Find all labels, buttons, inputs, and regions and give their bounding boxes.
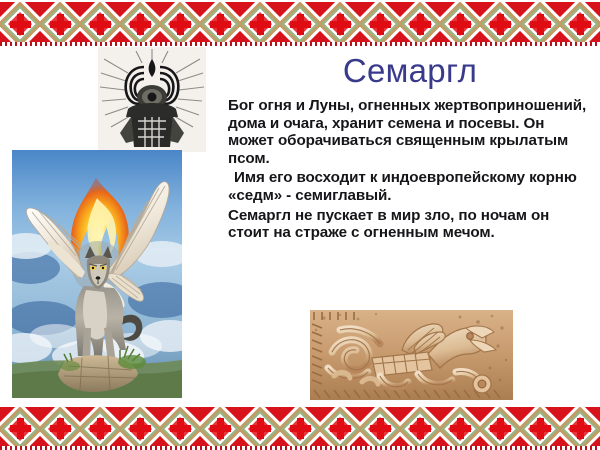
ornament-star-icon xyxy=(177,418,184,439)
ornament-star-icon xyxy=(337,418,344,439)
ornament-motif xyxy=(200,407,240,450)
ornament-star-icon xyxy=(537,14,544,35)
ornament-motif xyxy=(0,407,40,450)
page-title: Семаргл xyxy=(245,52,575,90)
ornament-star-icon xyxy=(577,418,584,439)
ornament-star-icon xyxy=(457,418,464,439)
ornament-star-icon xyxy=(57,418,64,439)
description-text-block: Бог огня и Луны, огненных жертвоприношен… xyxy=(228,97,594,244)
paragraph-2: Имя его восходит к индоевропейскому корн… xyxy=(228,169,594,204)
ornament-motif xyxy=(280,407,320,450)
ornament-border-bottom xyxy=(0,407,600,450)
ornament-star-icon xyxy=(97,14,104,35)
ornament-star-icon xyxy=(377,418,384,439)
paragraph-3: Семаргл не пускает в мир зло, по ночам о… xyxy=(228,207,594,242)
ornament-star-icon xyxy=(297,14,304,35)
ornament-star-icon xyxy=(137,418,144,439)
ornament-motif xyxy=(40,407,80,450)
ornament-motif xyxy=(120,407,160,450)
ornament-border-top xyxy=(0,2,600,46)
ornament-motif xyxy=(240,407,280,450)
ornament-motif xyxy=(200,2,240,46)
ornament-motif xyxy=(440,407,480,450)
ornament-motif xyxy=(520,2,560,46)
ornament-star-icon xyxy=(497,14,504,35)
border-motif-row-top xyxy=(0,2,600,46)
ornament-star-icon xyxy=(137,14,144,35)
ornament-star-icon xyxy=(217,418,224,439)
ornament-motif xyxy=(280,2,320,46)
winged-wolf-painting xyxy=(12,150,182,398)
ornament-star-icon xyxy=(497,418,504,439)
ornament-motif xyxy=(400,407,440,450)
ornament-star-icon xyxy=(257,418,264,439)
ornament-star-icon xyxy=(257,14,264,35)
ornament-star-icon xyxy=(217,14,224,35)
ornament-motif xyxy=(320,2,360,46)
ornament-star-icon xyxy=(417,418,424,439)
ornament-motif xyxy=(360,407,400,450)
ornament-star-icon xyxy=(297,418,304,439)
ornament-motif xyxy=(400,2,440,46)
ornament-star-icon xyxy=(577,14,584,35)
ornament-motif xyxy=(120,2,160,46)
border-picot-edge-bottom xyxy=(0,446,600,450)
ornament-star-icon xyxy=(417,14,424,35)
ornament-motif xyxy=(160,407,200,450)
ornament-star-icon xyxy=(177,14,184,35)
ornament-star-icon xyxy=(17,418,24,439)
ornament-star-icon xyxy=(337,14,344,35)
paragraph-1: Бог огня и Луны, огненных жертвоприношен… xyxy=(228,97,594,167)
border-picot-edge-bottom xyxy=(0,42,600,46)
ornament-motif xyxy=(80,407,120,450)
ornament-star-icon xyxy=(537,418,544,439)
ornament-star-icon xyxy=(377,14,384,35)
wood-carving-relief xyxy=(310,310,513,400)
ornament-star-icon xyxy=(57,14,64,35)
ornament-motif xyxy=(520,407,560,450)
ornament-motif xyxy=(360,2,400,46)
border-motif-row-bottom xyxy=(0,407,600,450)
ornament-motif xyxy=(0,2,40,46)
ornament-motif xyxy=(560,2,600,46)
slide-canvas: Семаргл Бог огня и Луны, огненных жертво… xyxy=(0,0,600,450)
ornament-motif xyxy=(480,407,520,450)
ornament-star-icon xyxy=(17,14,24,35)
ornament-star-icon xyxy=(457,14,464,35)
ornament-motif xyxy=(160,2,200,46)
ornament-motif xyxy=(480,2,520,46)
ornament-motif xyxy=(40,2,80,46)
ornament-star-icon xyxy=(97,418,104,439)
ornament-motif xyxy=(440,2,480,46)
ornament-motif xyxy=(320,407,360,450)
ornament-motif xyxy=(240,2,280,46)
ornament-motif xyxy=(80,2,120,46)
winged-deity-engraving xyxy=(98,47,206,152)
ornament-motif xyxy=(560,407,600,450)
